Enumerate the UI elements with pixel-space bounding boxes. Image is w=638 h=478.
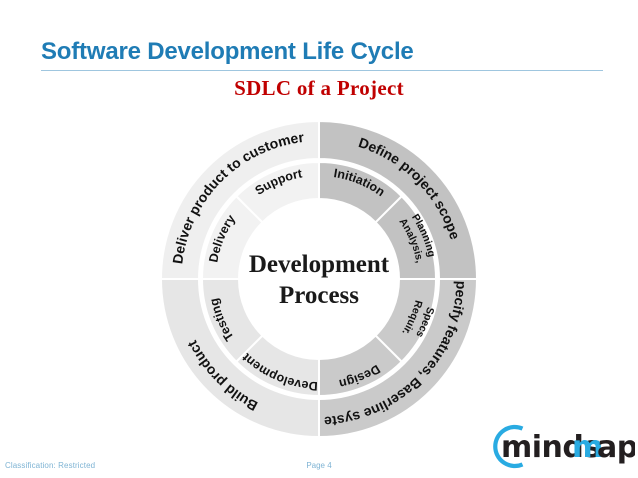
- wheel-center-hub: [241, 201, 397, 357]
- slide-subtitle: SDLC of a Project: [0, 76, 638, 101]
- page-title: Software Development Life Cycle: [41, 38, 414, 66]
- mindsmapped-logo-svg: minds m apped: [487, 419, 635, 475]
- sdlc-wheel-diagram: Deliver product to customer Define proje…: [138, 112, 500, 447]
- wheel-center-title-line2: Process: [279, 282, 359, 309]
- title-block: Software Development Life Cycle: [0, 38, 638, 78]
- title-underline-rule: [41, 70, 603, 71]
- mindsmapped-logo[interactable]: minds m apped: [487, 419, 635, 475]
- sdlc-wheel-svg: Deliver product to customer Define proje…: [138, 112, 500, 447]
- logo-text-part2: apped: [597, 430, 635, 465]
- wheel-center-title-line1: Development: [249, 251, 390, 278]
- slide-canvas: Software Development Life Cycle SDLC of …: [0, 0, 638, 478]
